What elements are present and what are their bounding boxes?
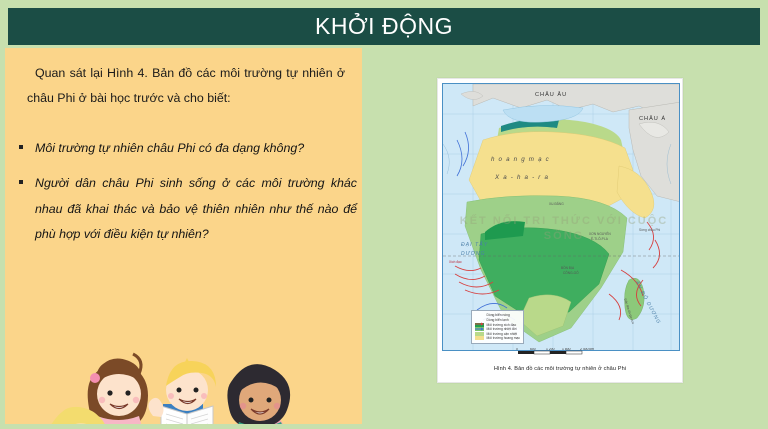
legend-label: Môi trường hoang mạc xyxy=(487,336,521,340)
legend-label: Dòng biển nóng xyxy=(487,313,510,317)
desert-env-swatch xyxy=(475,336,484,340)
legend-label: Môi trường nhiệt đới xyxy=(487,327,517,331)
page-title: KHỞI ĐỘNG xyxy=(315,15,453,38)
map-label-atlantic-ocean: ĐẠI TÂY xyxy=(461,242,488,248)
svg-text:1 200: 1 200 xyxy=(546,348,555,351)
map-label-asia: CHÂU Á xyxy=(639,116,666,122)
map-label-ethiopia: XƠN NGUYÊN xyxy=(589,232,611,236)
map-label-ethiopia-2: Ê-TI-Ô-PI-A xyxy=(591,237,608,241)
intro-instruction-text: Quan sát lại Hình 4. Bản đồ các môi trườ… xyxy=(27,61,345,111)
map-legend: Dòng biển nóng Dòng biển lạnh Môi trường… xyxy=(471,310,524,344)
map-image[interactable]: CHÂU ÂU CHÂU Á h o a n g m ạ c X a - h a… xyxy=(442,83,680,351)
map-label-sudan: XU-ĐĂNG xyxy=(549,202,564,206)
bullet-square-icon xyxy=(19,180,23,184)
four-children-reading-books-illustration xyxy=(35,344,307,424)
svg-text:2 400 km: 2 400 km xyxy=(580,348,594,351)
map-label-congo-basin-2: CÔNG-GÔ xyxy=(563,271,579,275)
subtropical-env-swatch xyxy=(475,332,484,336)
slide-header-bar: KHỞI ĐỘNG xyxy=(8,8,760,45)
map-scale-bar: 0 600 1 200 1 800 2 400 km xyxy=(500,345,620,355)
map-label-atlantic-ocean-2: DƯƠNG xyxy=(461,251,486,257)
map-label-horn-africa: Sừng châu Phi xyxy=(639,228,660,232)
legend-item: Dòng biển nóng xyxy=(475,313,520,317)
question-text: Môi trường tự nhiên châu Phi có đa dạng … xyxy=(35,141,304,155)
map-label-equator: Xích đạo xyxy=(449,260,462,264)
map-label-congo-basin: BỒN ĐỊA xyxy=(561,266,574,270)
svg-text:1 800: 1 800 xyxy=(562,348,571,351)
svg-text:0: 0 xyxy=(516,348,518,351)
bullet-square-icon xyxy=(19,145,23,149)
legend-label: Môi trường xích đạo xyxy=(487,323,517,327)
question-list: Môi trường tự nhiên châu Phi có đa dạng … xyxy=(17,136,357,258)
legend-label: Dòng biển lạnh xyxy=(487,318,509,322)
map-label-desert: h o a n g m ạ c xyxy=(491,156,550,163)
cold-current-arrow-icon xyxy=(475,318,484,322)
map-label-europe: CHÂU ÂU xyxy=(535,92,567,98)
warm-current-arrow-icon xyxy=(475,313,484,317)
map-label-sahara: X a - h a - r a xyxy=(495,174,549,181)
legend-label: Môi trường cận nhiệt xyxy=(487,332,518,336)
list-item: Môi trường tự nhiên châu Phi có đa dạng … xyxy=(17,136,357,161)
question-panel: Quan sát lại Hình 4. Bản đồ các môi trườ… xyxy=(5,48,362,424)
map-figure-card[interactable]: CHÂU ÂU CHÂU Á h o a n g m ạ c X a - h a… xyxy=(437,78,683,383)
figure-caption: Hình 4. Bản đồ các môi trường tự nhiên ở… xyxy=(438,366,682,372)
question-text: Người dân châu Phi sinh sống ở các môi t… xyxy=(35,176,357,241)
legend-item: Môi trường cận nhiệt xyxy=(475,332,520,336)
list-item: Người dân châu Phi sinh sống ở các môi t… xyxy=(17,171,357,247)
svg-text:600: 600 xyxy=(530,348,536,351)
legend-item: Dòng biển lạnh xyxy=(475,318,520,322)
legend-item: Môi trường hoang mạc xyxy=(475,336,520,340)
